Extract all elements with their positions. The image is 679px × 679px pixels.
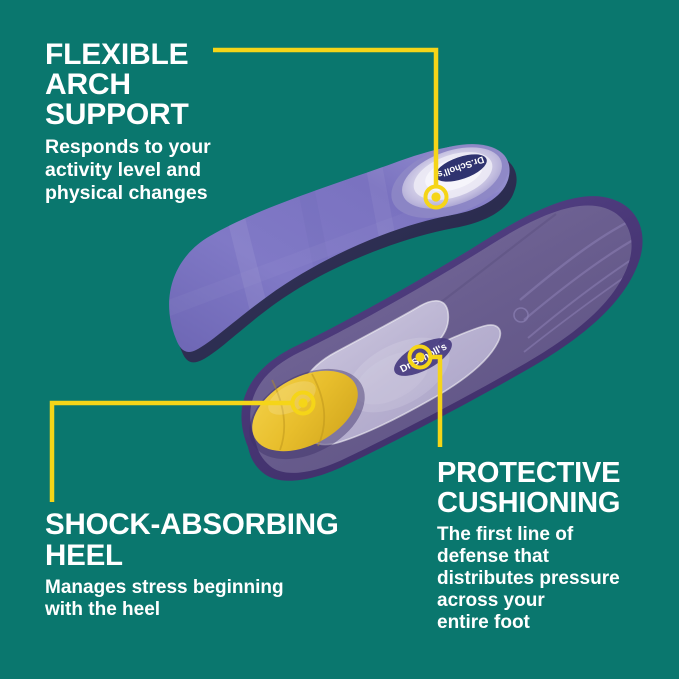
callout-body-shock-absorbing-heel: Manages stress beginning with the heel (45, 577, 405, 621)
callout-heading-protective-cushioning: Protective Cushioning (437, 458, 667, 518)
callout-body-flexible-arch-support: Responds to your activity level and phys… (45, 136, 260, 205)
callout-block-shock-absorbing-heel: Shock-Absorbing Heel Manages stress begi… (45, 509, 405, 621)
callout-body-protective-cushioning: The first line of defense that distribut… (437, 524, 667, 634)
callout-heading-flexible-arch-support: Flexible Arch Support (45, 40, 260, 130)
callout-block-flexible-arch-support: Flexible Arch Support Responds to your a… (45, 40, 260, 205)
infographic-canvas: Dr.Scholl's (0, 0, 679, 679)
callout-heading-shock-absorbing-heel: Shock-Absorbing Heel (45, 509, 405, 571)
callout-block-protective-cushioning: Protective Cushioning The first line of … (437, 458, 667, 634)
